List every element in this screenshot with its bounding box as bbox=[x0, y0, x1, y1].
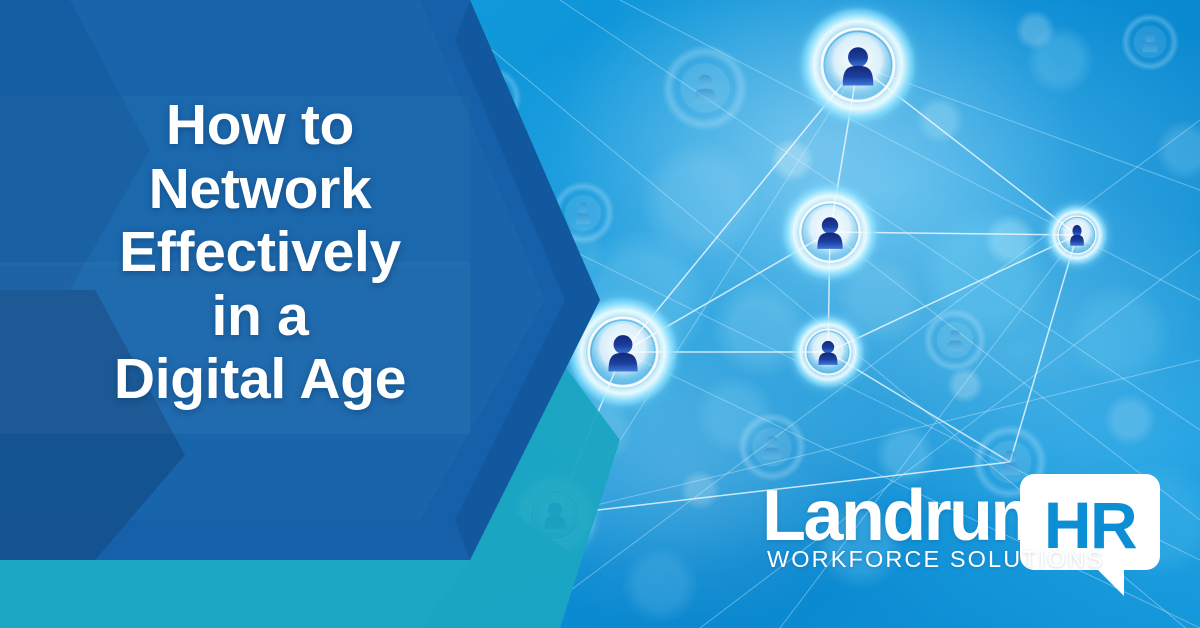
title-line: Network bbox=[0, 158, 520, 222]
network-node bbox=[1047, 205, 1108, 266]
title-line: in a bbox=[0, 285, 520, 349]
logo-wordmark: Landrum bbox=[762, 480, 1052, 552]
title-line: Effectively bbox=[0, 221, 520, 285]
network-node bbox=[662, 45, 749, 132]
title-line: Digital Age bbox=[0, 348, 520, 412]
network-node bbox=[737, 412, 807, 482]
network-node bbox=[792, 316, 865, 389]
network-node bbox=[923, 308, 987, 372]
network-node bbox=[1121, 13, 1179, 71]
title-line: How to bbox=[0, 94, 520, 158]
promo-banner: How to Network Effectively in a Digital … bbox=[0, 0, 1200, 628]
network-node bbox=[782, 184, 878, 280]
network-node bbox=[568, 297, 678, 407]
network-node bbox=[551, 181, 615, 245]
network-node bbox=[514, 474, 595, 555]
logo-tagline: WORKFORCE SOLUTIONS bbox=[767, 548, 1105, 572]
page-title: How to Network Effectively in a Digital … bbox=[0, 94, 520, 412]
network-node bbox=[308, 20, 378, 90]
landrumhr-logo[interactable]: Landrum HR WORKFORCE SOLUTIONS bbox=[762, 478, 1162, 596]
network-node bbox=[800, 7, 916, 123]
network-node bbox=[313, 523, 377, 587]
